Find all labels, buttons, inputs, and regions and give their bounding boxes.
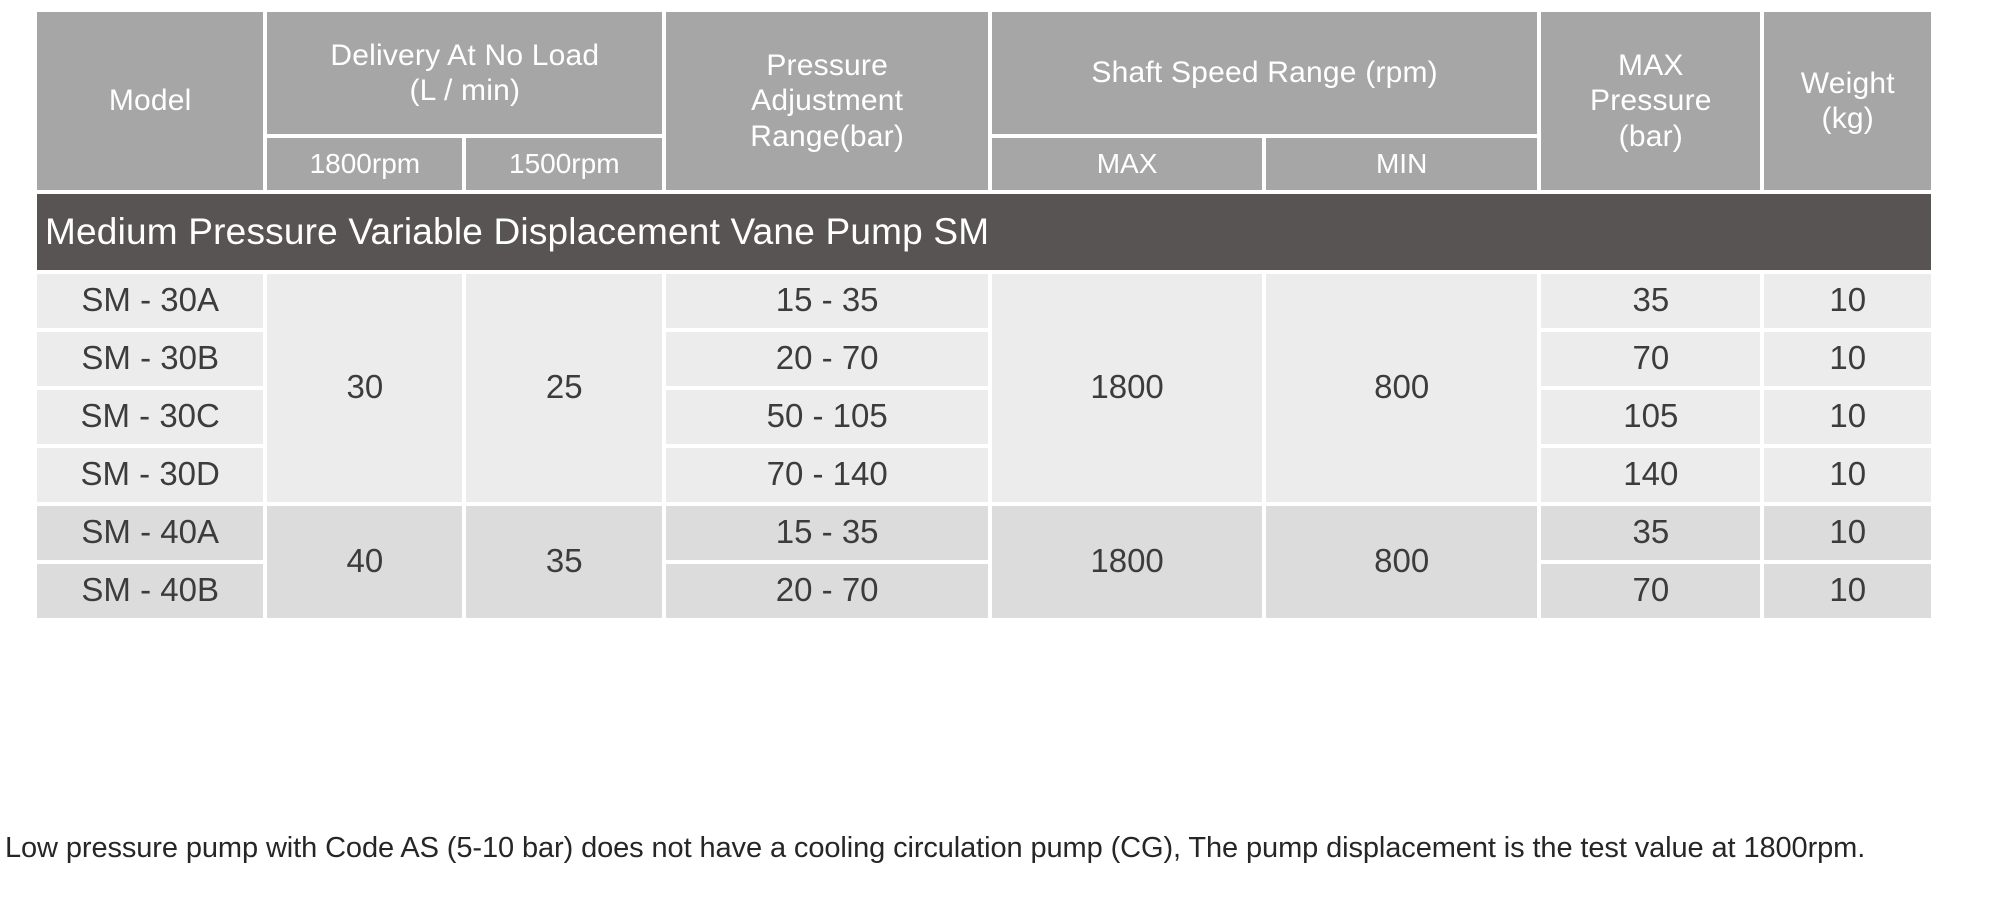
cell-pressure-range: 50 - 105: [666, 390, 988, 444]
header-pressure-adjustment: Pressure Adjustment Range(bar): [666, 12, 988, 190]
cell-weight: 10: [1764, 274, 1931, 328]
cell-delivery-1500rpm: 25: [466, 274, 662, 502]
cell-pressure-range: 15 - 35: [666, 274, 988, 328]
header-delivery-line2: (L / min): [267, 73, 662, 108]
header-shaft-max-label: MAX: [1097, 148, 1158, 179]
header-delivery-group: Delivery At No Load (L / min): [267, 12, 662, 134]
pump-specification-table: Model Delivery At No Load (L / min) Pres…: [33, 8, 1935, 622]
cell-pressure-range: 20 - 70: [666, 564, 988, 618]
cell-pressure-range: 15 - 35: [666, 506, 988, 560]
header-delivery-1800rpm-label: 1800rpm: [310, 148, 421, 179]
cell-max-pressure: 35: [1541, 506, 1760, 560]
spec-sheet-page: Model Delivery At No Load (L / min) Pres…: [0, 0, 2012, 904]
header-shaft-max: MAX: [992, 138, 1262, 190]
cell-model: SM - 30A: [37, 274, 263, 328]
cell-shaft-max: 1800: [992, 506, 1262, 618]
cell-model: SM - 30B: [37, 332, 263, 386]
header-max-pressure-line3: (bar): [1541, 119, 1760, 154]
cell-delivery-1800rpm: 40: [267, 506, 462, 618]
header-delivery-1500rpm-label: 1500rpm: [509, 148, 620, 179]
cell-pressure-range: 70 - 140: [666, 448, 988, 502]
cell-shaft-min: 800: [1266, 274, 1537, 502]
cell-delivery-1500rpm: 35: [466, 506, 662, 618]
cell-weight: 10: [1764, 332, 1931, 386]
footnote-text: Low pressure pump with Code AS (5-10 bar…: [5, 832, 2005, 865]
cell-weight: 10: [1764, 448, 1931, 502]
table-body-group-40: SM - 40A 40 35 15 - 35 1800 800 35 10 SM…: [37, 506, 1931, 618]
cell-model: SM - 30D: [37, 448, 263, 502]
cell-max-pressure: 105: [1541, 390, 1760, 444]
header-pressure-line3: Range(bar): [666, 119, 988, 154]
table-row: SM - 30A 30 25 15 - 35 1800 800 35 10: [37, 274, 1931, 328]
cell-shaft-min: 800: [1266, 506, 1537, 618]
cell-max-pressure: 35: [1541, 274, 1760, 328]
header-row-top: Model Delivery At No Load (L / min) Pres…: [37, 12, 1931, 134]
cell-max-pressure: 70: [1541, 564, 1760, 618]
header-max-pressure: MAX Pressure (bar): [1541, 12, 1760, 190]
cell-weight: 10: [1764, 390, 1931, 444]
header-weight-line2: (kg): [1764, 101, 1931, 136]
header-pressure-line1: Pressure: [666, 48, 988, 83]
cell-weight: 10: [1764, 506, 1931, 560]
header-delivery-1800rpm: 1800rpm: [267, 138, 462, 190]
cell-max-pressure: 70: [1541, 332, 1760, 386]
header-max-pressure-line2: Pressure: [1541, 83, 1760, 118]
section-title-cell: Medium Pressure Variable Displacement Va…: [37, 194, 1931, 270]
header-model: Model: [37, 12, 263, 190]
cell-weight: 10: [1764, 564, 1931, 618]
table-header-group: Model Delivery At No Load (L / min) Pres…: [37, 12, 1931, 190]
header-shaft-min-label: MIN: [1376, 148, 1427, 179]
cell-shaft-max: 1800: [992, 274, 1262, 502]
header-shaft-speed-group: Shaft Speed Range (rpm): [992, 12, 1537, 134]
section-title-label: Medium Pressure Variable Displacement Va…: [45, 211, 989, 252]
header-model-label: Model: [109, 84, 192, 117]
cell-max-pressure: 140: [1541, 448, 1760, 502]
header-weight-line1: Weight: [1764, 66, 1931, 101]
header-weight: Weight (kg): [1764, 12, 1931, 190]
header-delivery-line1: Delivery At No Load: [267, 38, 662, 73]
header-delivery-1500rpm: 1500rpm: [466, 138, 662, 190]
table-row: SM - 40A 40 35 15 - 35 1800 800 35 10: [37, 506, 1931, 560]
header-pressure-line2: Adjustment: [666, 83, 988, 118]
section-band-group: Medium Pressure Variable Displacement Va…: [37, 194, 1931, 270]
cell-model: SM - 30C: [37, 390, 263, 444]
cell-model: SM - 40B: [37, 564, 263, 618]
cell-pressure-range: 20 - 70: [666, 332, 988, 386]
header-shaft-speed-label: Shaft Speed Range (rpm): [1091, 56, 1437, 89]
header-max-pressure-line1: MAX: [1541, 48, 1760, 83]
cell-delivery-1800rpm: 30: [267, 274, 462, 502]
section-title-row: Medium Pressure Variable Displacement Va…: [37, 194, 1931, 270]
cell-model: SM - 40A: [37, 506, 263, 560]
header-shaft-min: MIN: [1266, 138, 1537, 190]
table-body-group-30: SM - 30A 30 25 15 - 35 1800 800 35 10 SM…: [37, 274, 1931, 502]
